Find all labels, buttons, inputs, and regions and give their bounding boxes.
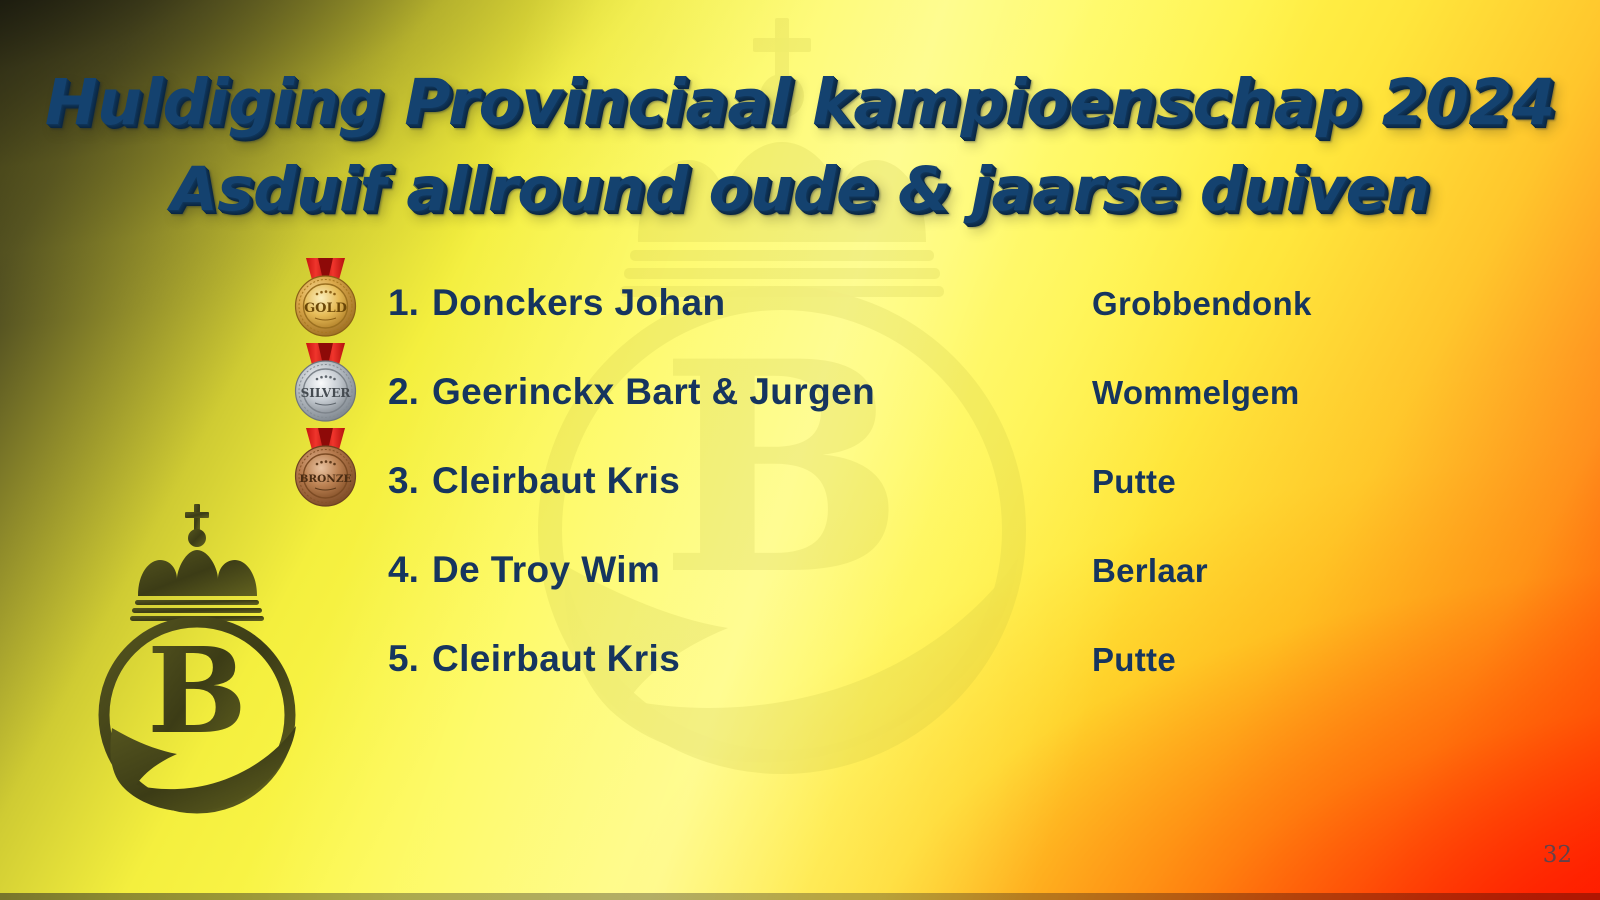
gold-medal-icon: GOLD <box>288 258 363 343</box>
result-rank: 3. <box>388 460 432 502</box>
presentation-slide: B Huldiging Provinciaal kampioenschap 20… <box>0 0 1600 900</box>
result-name: Cleirbaut Kris <box>432 638 1092 680</box>
result-row: 5. Cleirbaut Kris Putte <box>388 638 1518 727</box>
title-line-1: Huldiging Provinciaal kampioenschap 2024 <box>0 58 1600 147</box>
silver-medal-label: SILVER <box>301 386 352 400</box>
svg-text:B: B <box>147 621 247 760</box>
title-line-2: Asduif allround oude & jaarse duiven <box>0 147 1600 234</box>
result-name: Geerinckx Bart & Jurgen <box>432 371 1092 413</box>
result-row: 2. Geerinckx Bart & Jurgen Wommelgem <box>388 371 1518 460</box>
result-city: Putte <box>1092 641 1518 679</box>
result-row: 4. De Troy Wim Berlaar <box>388 549 1518 638</box>
result-row: 3. Cleirbaut Kris Putte <box>388 460 1518 549</box>
medal-stack: GOLD <box>288 258 368 513</box>
result-name: De Troy Wim <box>432 549 1092 591</box>
gold-medal-label: GOLD <box>304 301 347 316</box>
result-rank: 5. <box>388 638 432 680</box>
result-city: Grobbendonk <box>1092 285 1518 323</box>
slide-title: Huldiging Provinciaal kampioenschap 2024… <box>0 58 1600 234</box>
result-city: Wommelgem <box>1092 374 1518 412</box>
result-rank: 1. <box>388 282 432 324</box>
result-city: Berlaar <box>1092 552 1518 590</box>
result-rank: 4. <box>388 549 432 591</box>
kbdb-emblem-logo: B <box>78 500 318 820</box>
result-rank: 2. <box>388 371 432 413</box>
page-number: 32 <box>1543 842 1572 868</box>
bronze-medal-icon: BRONZE <box>288 428 363 513</box>
result-name: Cleirbaut Kris <box>432 460 1092 502</box>
result-row: 1. Donckers Johan Grobbendonk <box>388 282 1518 371</box>
silver-medal-icon: SILVER <box>288 343 363 428</box>
result-name: Donckers Johan <box>432 282 1092 324</box>
bronze-medal-label: BRONZE <box>299 473 351 485</box>
bottom-edge-strip <box>0 893 1600 900</box>
result-city: Putte <box>1092 463 1518 501</box>
results-list: 1. Donckers Johan Grobbendonk 2. Geerinc… <box>388 282 1518 727</box>
